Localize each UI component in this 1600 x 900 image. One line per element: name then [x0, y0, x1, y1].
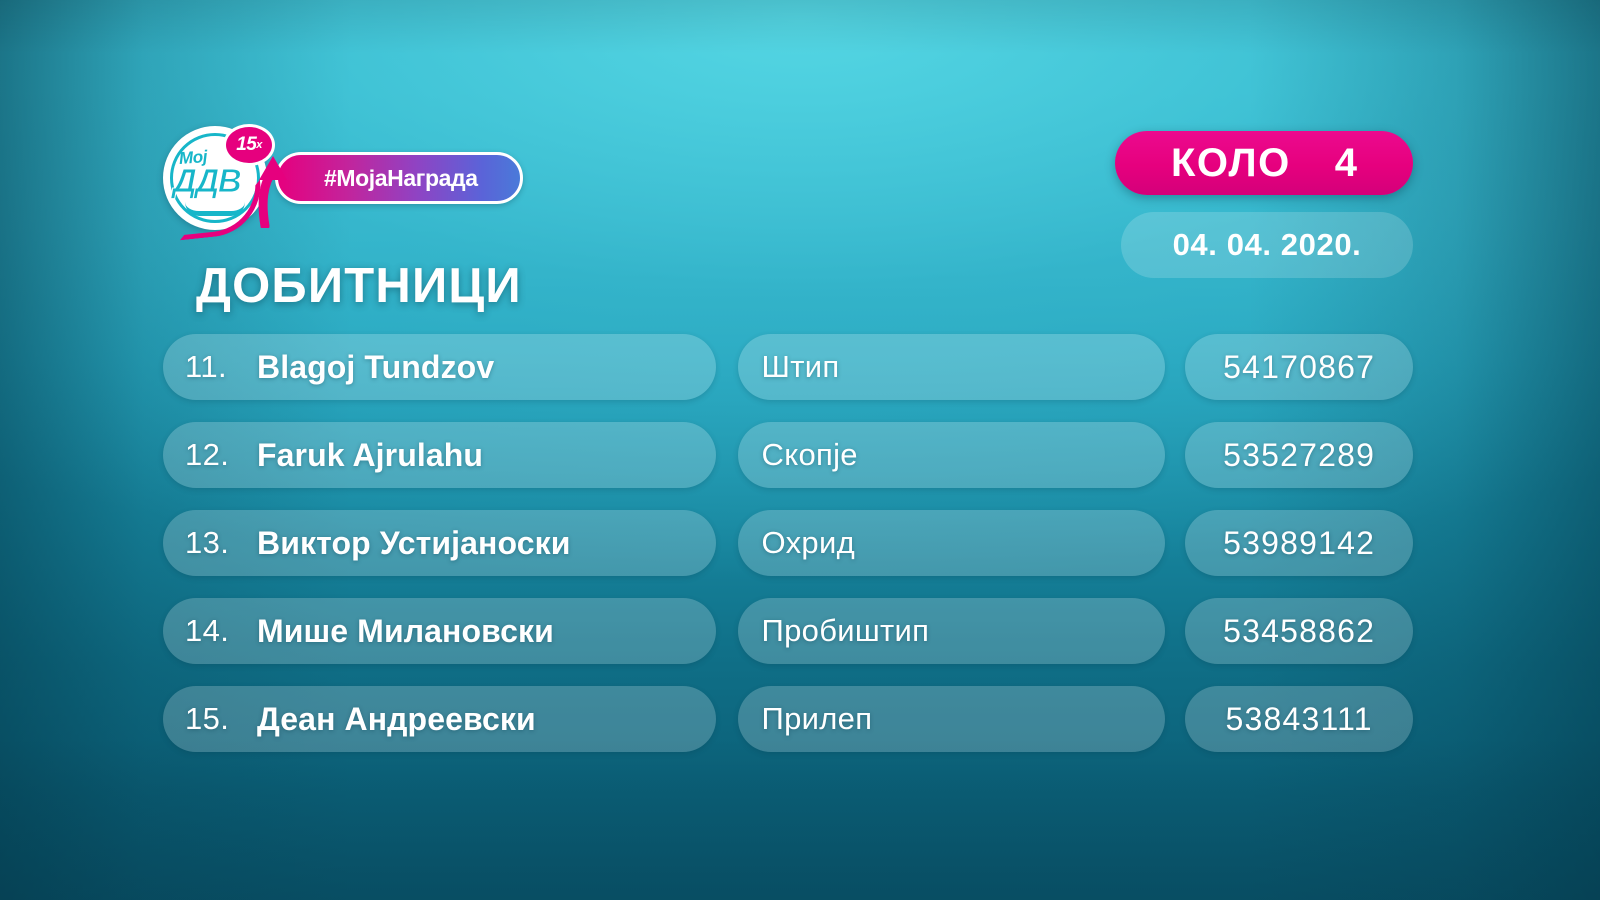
winner-city: Штип	[762, 349, 840, 385]
winner-code: 53527289	[1223, 437, 1375, 474]
winner-name: Виктор Устијаноски	[257, 525, 571, 562]
table-row: 12. Faruk Ajrulahu Скопје 53527289	[163, 422, 1413, 488]
winner-city: Скопје	[762, 437, 858, 473]
winner-name-cell: 13. Виктор Устијаноски	[163, 510, 716, 576]
winner-name-cell: 14. Мише Милановски	[163, 598, 716, 664]
table-row: 13. Виктор Устијаноски Охрид 53989142	[163, 510, 1413, 576]
page-title: ДОБИТНИЦИ	[196, 258, 522, 314]
winner-name: Мише Милановски	[257, 613, 554, 650]
logo-15x-suffix: x	[256, 139, 262, 151]
draw-date-pill: 04. 04. 2020.	[1121, 212, 1413, 278]
winner-name-cell: 11. Blagoj Tundzov	[163, 334, 716, 400]
table-row: 14. Мише Милановски Пробиштип 53458862	[163, 598, 1413, 664]
winner-code: 53843111	[1225, 701, 1372, 738]
winner-rank: 15.	[185, 701, 239, 737]
logo-up-arrow-icon	[251, 154, 291, 228]
table-row: 15. Деан Андреевски Прилеп 53843111	[163, 686, 1413, 752]
winner-code-cell: 54170867	[1185, 334, 1413, 400]
draw-date-text: 04. 04. 2020.	[1173, 227, 1362, 263]
winner-name-cell: 12. Faruk Ajrulahu	[163, 422, 716, 488]
winner-code: 53989142	[1223, 525, 1375, 562]
winner-city-cell: Прилеп	[738, 686, 1166, 752]
moj-ddv-logo: Мој ДДВ 15x #МојаНаграда	[163, 126, 523, 230]
winner-code: 53458862	[1223, 613, 1375, 650]
winner-rank: 12.	[185, 437, 239, 473]
winner-rank: 13.	[185, 525, 239, 561]
hashtag-banner: #МојаНаграда	[275, 152, 523, 204]
winner-code-cell: 53527289	[1185, 422, 1413, 488]
winner-code-cell: 53458862	[1185, 598, 1413, 664]
logo-15x-number: 15	[236, 134, 256, 156]
round-number: 4	[1335, 143, 1357, 183]
winner-city: Пробиштип	[762, 613, 930, 649]
winner-code-cell: 53843111	[1185, 686, 1413, 752]
winner-rank: 14.	[185, 613, 239, 649]
winner-city-cell: Скопје	[738, 422, 1166, 488]
winner-name-cell: 15. Деан Андреевски	[163, 686, 716, 752]
winner-city: Охрид	[762, 525, 855, 561]
table-row: 11. Blagoj Tundzov Штип 54170867	[163, 334, 1413, 400]
winner-code: 54170867	[1223, 349, 1375, 386]
broadcast-graphic-screen: Мој ДДВ 15x #МојаНаграда КОЛО 4 04. 04. …	[0, 0, 1600, 900]
winner-code-cell: 53989142	[1185, 510, 1413, 576]
winner-rank: 11.	[185, 349, 239, 385]
winner-city: Прилеп	[762, 701, 873, 737]
winners-table: 11. Blagoj Tundzov Штип 54170867 12. Far…	[163, 334, 1413, 752]
winner-name: Blagoj Tundzov	[257, 349, 494, 386]
winner-name: Faruk Ajrulahu	[257, 437, 483, 474]
winner-city-cell: Штип	[738, 334, 1166, 400]
round-label: КОЛО	[1171, 143, 1291, 183]
hashtag-text: #МојаНаграда	[278, 165, 478, 192]
winner-city-cell: Пробиштип	[738, 598, 1166, 664]
winner-name: Деан Андреевски	[257, 701, 536, 738]
winner-city-cell: Охрид	[738, 510, 1166, 576]
round-badge: КОЛО 4	[1115, 131, 1413, 195]
